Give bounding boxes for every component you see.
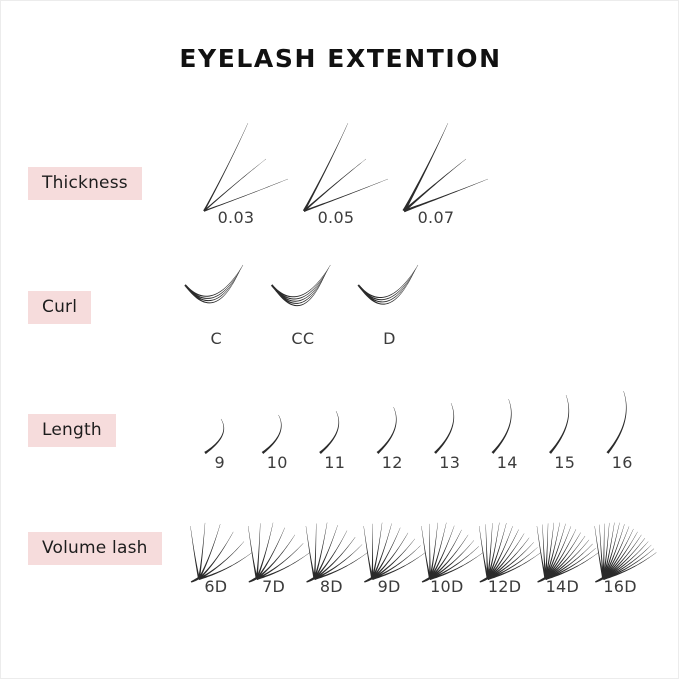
lash-strand	[198, 523, 205, 579]
tick-label: C	[173, 329, 260, 348]
lash-strand	[606, 391, 626, 454]
lash-strand	[262, 415, 282, 454]
lash-strand	[313, 523, 316, 579]
volume-lash-illustrations	[187, 499, 649, 585]
volume-tick-labels: 6D 7D 8D 9D 10D 12D 14D 16D	[187, 577, 649, 596]
section-label-thickness: Thickness	[28, 167, 142, 200]
tick-label: 10	[249, 453, 307, 472]
tick-label: 12	[364, 453, 422, 472]
tick-label: 9	[191, 453, 249, 472]
lash-strand	[198, 541, 244, 580]
thickness-lash-illustrations	[186, 119, 486, 219]
lash-strand	[276, 276, 325, 306]
tick-label: 14D	[534, 577, 592, 596]
lash-strand	[303, 159, 366, 212]
tick-label: 16D	[591, 577, 649, 596]
thickness-tick-labels: 0.03 0.05 0.07	[186, 208, 486, 227]
tick-label: 14	[479, 453, 537, 472]
tick-label: 6D	[187, 577, 245, 596]
lash-strand	[199, 552, 253, 580]
tick-label: 0.07	[386, 208, 486, 227]
lash-strand	[188, 273, 239, 303]
tick-label: 12D	[476, 577, 534, 596]
lash-strand	[274, 273, 326, 304]
lash-strand	[434, 403, 454, 454]
lash-strand	[203, 123, 248, 211]
lash-strand	[303, 123, 348, 212]
thickness-fan-group	[186, 119, 486, 219]
lash-strand	[203, 159, 266, 212]
section-label-curl: Curl	[28, 291, 91, 324]
lash-strand	[204, 179, 288, 212]
lash-strand	[377, 407, 397, 454]
curl-lash-illustrations	[173, 259, 433, 331]
lash-strand	[248, 526, 258, 579]
tick-label: 9D	[360, 577, 418, 596]
page-title: EYELASH EXTENTION	[1, 44, 679, 73]
lash-strand	[402, 123, 448, 212]
lash-strand	[198, 524, 220, 579]
lash-strand	[204, 419, 224, 454]
curl-cluster-group	[173, 259, 433, 331]
section-label-volume-lash: Volume lash	[28, 532, 162, 565]
tick-label: 0.03	[186, 208, 286, 227]
curl-tick-labels: C CC D	[173, 329, 433, 348]
lash-strand	[190, 526, 200, 579]
length-tick-labels: 9 10 11 12 13 14 15 16	[191, 453, 651, 472]
lash-strand	[319, 411, 339, 454]
lash-strand	[372, 552, 426, 580]
tick-label: 16	[594, 453, 652, 472]
eyelash-extension-chart: EYELASH EXTENTION Thickness 0.03 0.05 0.…	[0, 0, 679, 679]
lash-strand	[549, 395, 569, 454]
volume-fan-group	[187, 499, 649, 585]
lash-strand	[184, 265, 243, 297]
tick-label: 13	[421, 453, 479, 472]
tick-label: CC	[260, 329, 347, 348]
lash-strand	[306, 526, 316, 579]
section-label-length: Length	[28, 414, 116, 447]
tick-label: D	[346, 329, 433, 348]
lash-strand	[403, 159, 466, 212]
lash-strand	[371, 524, 373, 579]
tick-label: 8D	[303, 577, 361, 596]
tick-label: 0.05	[286, 208, 386, 227]
tick-label: 10D	[418, 577, 476, 596]
lash-strand	[304, 179, 388, 212]
lash-strand	[314, 552, 368, 580]
tick-label: 15	[536, 453, 594, 472]
lash-strand	[492, 399, 512, 454]
tick-label: 7D	[245, 577, 303, 596]
lash-strand	[361, 273, 414, 305]
tick-label: 11	[306, 453, 364, 472]
